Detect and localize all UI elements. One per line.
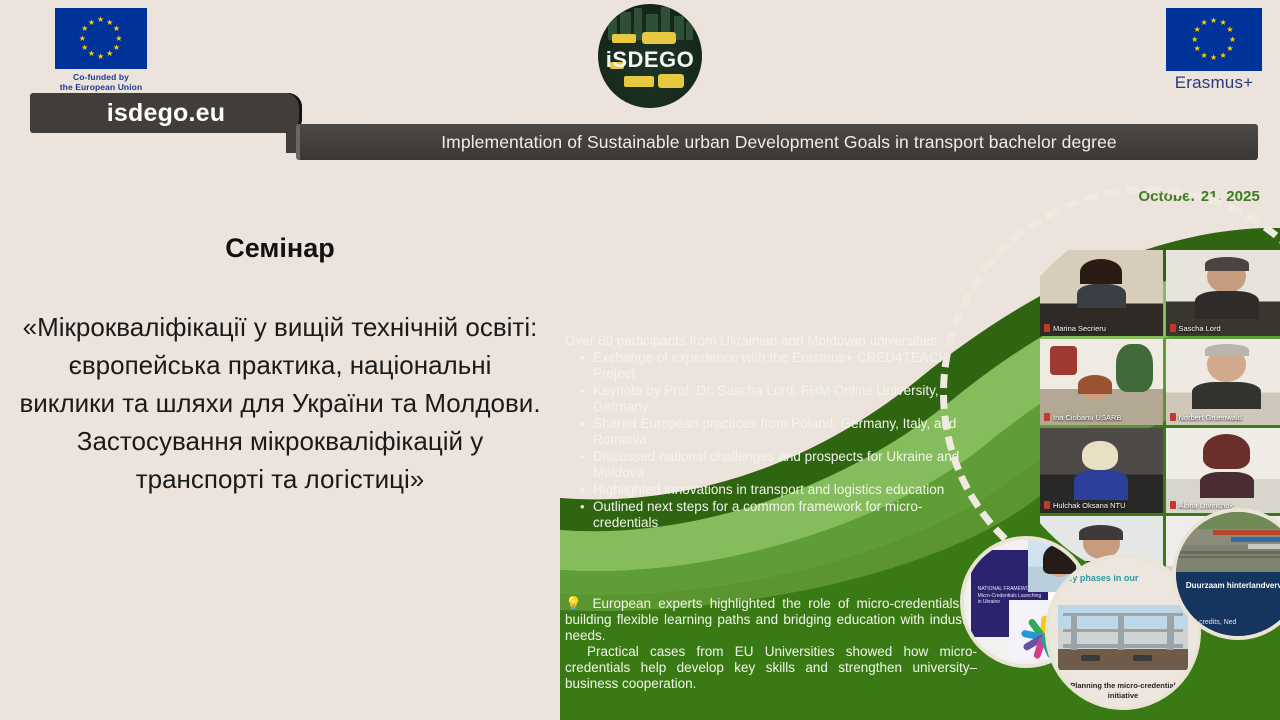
participant-tile: Marina Secrieru [1040,250,1163,336]
isdego-logo-text: iSDEGO [598,47,702,73]
summary-lead: Over 80 participants from Ukrainian and … [565,333,977,349]
photo-inset-duurzaam: Duurzaam hinterlandvervoer ECTS credits,… [1172,508,1280,640]
eu-logo-caption: Co-funded by the European Union [55,72,147,92]
participant-name: Norbert Gruenwald [1170,413,1280,422]
participant-tile: Sascha Lord [1166,250,1280,336]
isdego-logo-circle: iSDEGO [598,4,702,108]
participant-tile: Hulchak Oksana NTU [1040,428,1163,514]
participant-name: Marina Secrieru [1044,324,1161,333]
list-item: Keynote by Prof. Dr. Sascha Lord, FHM On… [593,383,977,415]
list-item: Discussed national challenges and prospe… [593,449,977,481]
eu-flag-icon: ★★★★★★★★★★★★ [1166,8,1262,71]
mic-icon [1170,501,1176,509]
inset-railyard-photo [1176,512,1280,572]
mic-icon [1170,324,1176,332]
inset-duurzaam-textbox: Duurzaam hinterlandvervoer ECTS credits,… [1176,572,1280,636]
list-item: Outlined next steps for a common framewo… [593,499,977,531]
inset-building-diagram [1058,605,1188,670]
list-item: Shared European practices from Poland, G… [593,416,977,448]
inset-duurzaam-sub: ECTS credits, Ned [1178,619,1280,626]
participant-tile: Alona Litvinchuk [1166,428,1280,514]
list-item: Highlighted innovations in transport and… [593,482,977,498]
eu-cofunded-logo: ★★★★★★★★★★★★ Co-funded by the European U… [55,8,147,92]
inset-duurzaam-title: Duurzaam hinterlandvervoer [1186,581,1280,591]
project-title: Implementation of Sustainable urban Deve… [300,124,1258,160]
erasmus-plus-logo: ★★★★★★★★★★★★ Erasmus+ [1166,8,1262,93]
seminar-label: Семінар [0,233,560,264]
participant-tile: Norbert Gruenwald [1166,339,1280,425]
header: ★★★★★★★★★★★★ Co-funded by the European U… [0,0,1280,168]
inset-key-phases-title: Key phases in our [1061,573,1139,583]
inset-key-phases-caption: Planning the micro-credential initiative [1058,681,1188,700]
closing-note-block: 💡 European experts highlighted the role … [565,596,977,692]
green-content-panel: October 21, 2025 Marina Secrieru Sascha … [560,168,1280,720]
summary-bullet-list: Exchange of experience with the Erasmus+… [565,350,977,531]
isdego-site-banner[interactable]: isdego.eu [30,93,302,133]
list-item: Exchange of experience with the Erasmus+… [593,350,977,382]
note-paragraph-1: 💡 European experts highlighted the role … [565,596,977,644]
isdego-project-logo: iSDEGO [598,4,702,108]
mic-icon [1044,413,1050,421]
left-text-panel: Семінар «Мікрокваліфікації у вищій техні… [0,168,560,720]
mic-icon [1044,501,1050,509]
erasmus-caption: Erasmus+ [1166,73,1262,93]
mic-icon [1170,413,1176,421]
summary-block: Over 80 participants from Ukrainian and … [565,333,977,532]
project-title-strip: Implementation of Sustainable urban Deve… [296,124,1258,160]
isdego-site-label: isdego.eu [30,93,302,133]
note-paragraph-2: Practical cases from EU Universities sho… [565,644,977,692]
seminar-title: «Мікрокваліфікації у вищій технічній осв… [18,308,542,498]
participant-name: Ina Ciobanu USARB [1044,413,1161,422]
lightbulb-icon: 💡 [565,596,585,611]
participant-tile: Ina Ciobanu USARB [1040,339,1163,425]
eu-flag-icon: ★★★★★★★★★★★★ [55,8,147,69]
participant-name: Hulchak Oksana NTU [1044,501,1161,510]
slide-root: ★★★★★★★★★★★★ Co-funded by the European U… [0,0,1280,720]
note-text-1: European experts highlighted the role of… [565,596,977,643]
participant-name: Sascha Lord [1170,324,1280,333]
mic-icon [1044,324,1050,332]
